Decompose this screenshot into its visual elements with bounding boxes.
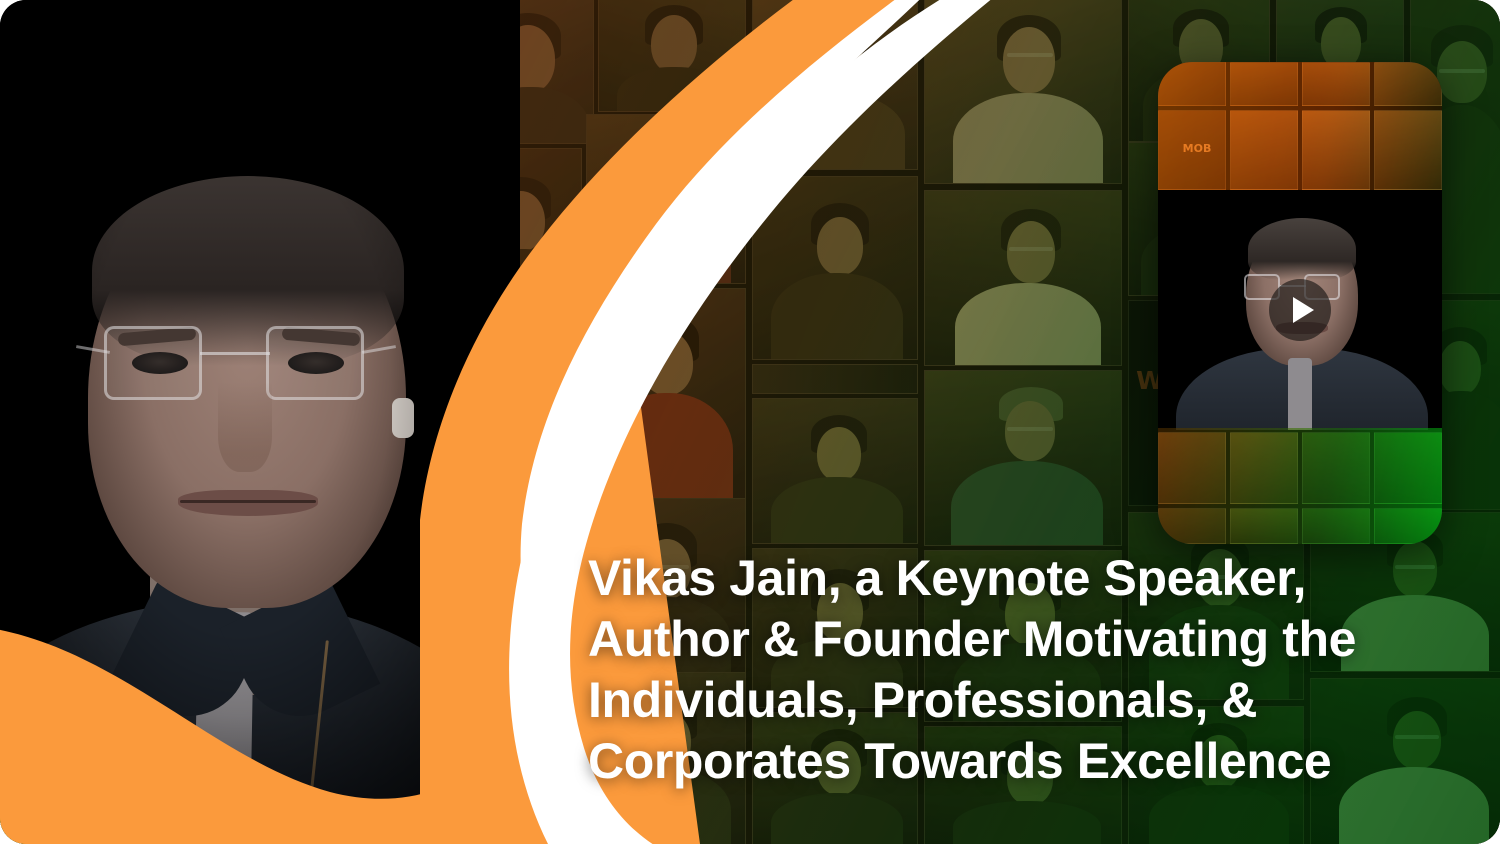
collage-tile <box>924 370 1122 546</box>
headline-line-4: Corporates Towards Excellence <box>588 731 1418 792</box>
phone-video-thumbnail[interactable] <box>1158 190 1442 430</box>
phone-speaker-shirt-placket <box>1288 358 1312 430</box>
collage-tile <box>924 190 1122 366</box>
collage-tile <box>752 398 918 544</box>
collage-tile <box>752 0 918 170</box>
phone-speaker-hair <box>1248 218 1356 280</box>
headline-line-1: Vikas Jain, a Keynote Speaker, <box>588 548 1418 609</box>
phone-mockup[interactable]: MOB <box>1158 62 1442 544</box>
play-triangle-icon <box>1293 297 1314 323</box>
headline-line-3: Individuals, Professionals, & <box>588 670 1418 731</box>
speaker-hero-photo <box>0 0 520 844</box>
promo-card: WORKMOB #MeriKahani ······ <box>0 0 1500 844</box>
page-title: Vikas Jain, a Keynote Speaker, Author & … <box>588 548 1418 792</box>
collage-tile <box>586 288 746 504</box>
speaker-vignette <box>0 0 520 844</box>
collage-tile <box>752 176 918 360</box>
collage-tile <box>598 0 746 112</box>
play-button[interactable] <box>1269 279 1331 341</box>
headline-line-2: Author & Founder Motivating the <box>588 609 1418 670</box>
collage-tile <box>752 364 918 394</box>
phone-top-highlight <box>1158 62 1442 194</box>
collage-tile <box>586 114 746 284</box>
phone-bottom-highlight <box>1158 428 1442 544</box>
collage-tile <box>924 0 1122 184</box>
